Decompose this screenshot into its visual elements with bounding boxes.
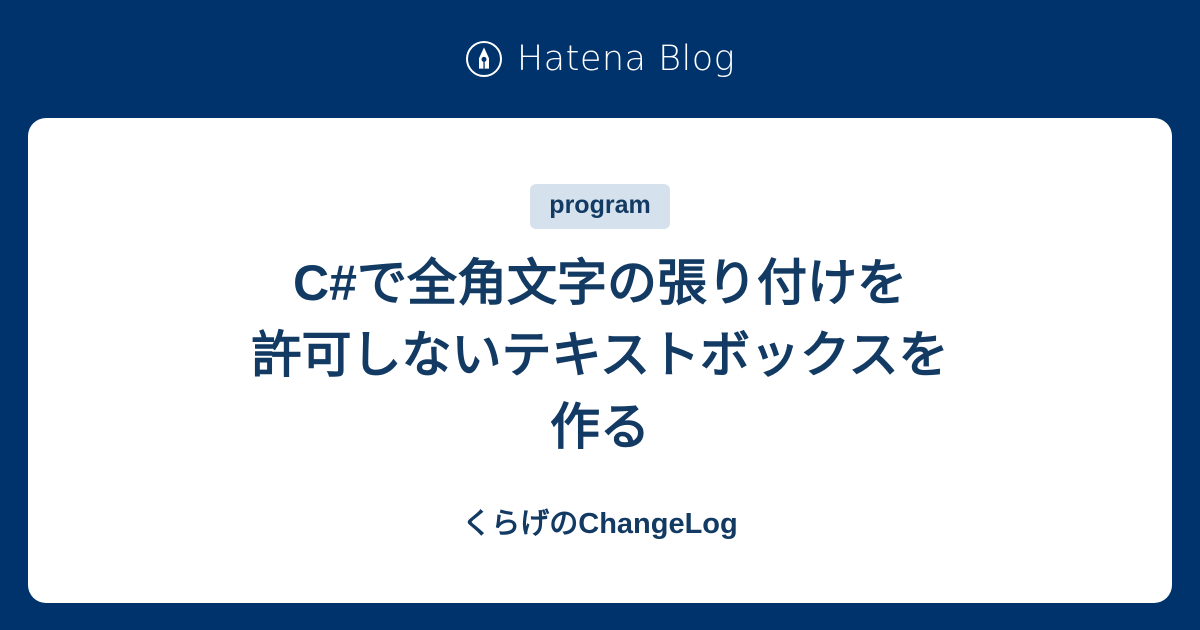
blog-title: くらげのChangeLog (170, 507, 1030, 542)
hatena-blog-brand-name: Hatena Blog (517, 42, 735, 77)
hatena-pen-nib-icon (465, 40, 503, 78)
entry-card-content: program C#で全角文字の張り付けを 許可しないテキストボックスを 作る … (170, 118, 1030, 542)
category-row: program (170, 184, 1030, 229)
entry-title-line-1: C#で全角文字の張り付けを (170, 247, 1030, 319)
entry-title: C#で全角文字の張り付けを 許可しないテキストボックスを 作る (170, 247, 1030, 463)
entry-title-line-2: 許可しないテキストボックスを (170, 319, 1030, 391)
og-image-canvas: Hatena Blog program C#で全角文字の張り付けを 許可しないテ… (0, 0, 1200, 630)
hatena-blog-header: Hatena Blog (0, 0, 1200, 118)
category-tag-program[interactable]: program (530, 184, 669, 229)
entry-card: program C#で全角文字の張り付けを 許可しないテキストボックスを 作る … (28, 118, 1172, 603)
entry-title-line-3: 作る (170, 391, 1030, 463)
